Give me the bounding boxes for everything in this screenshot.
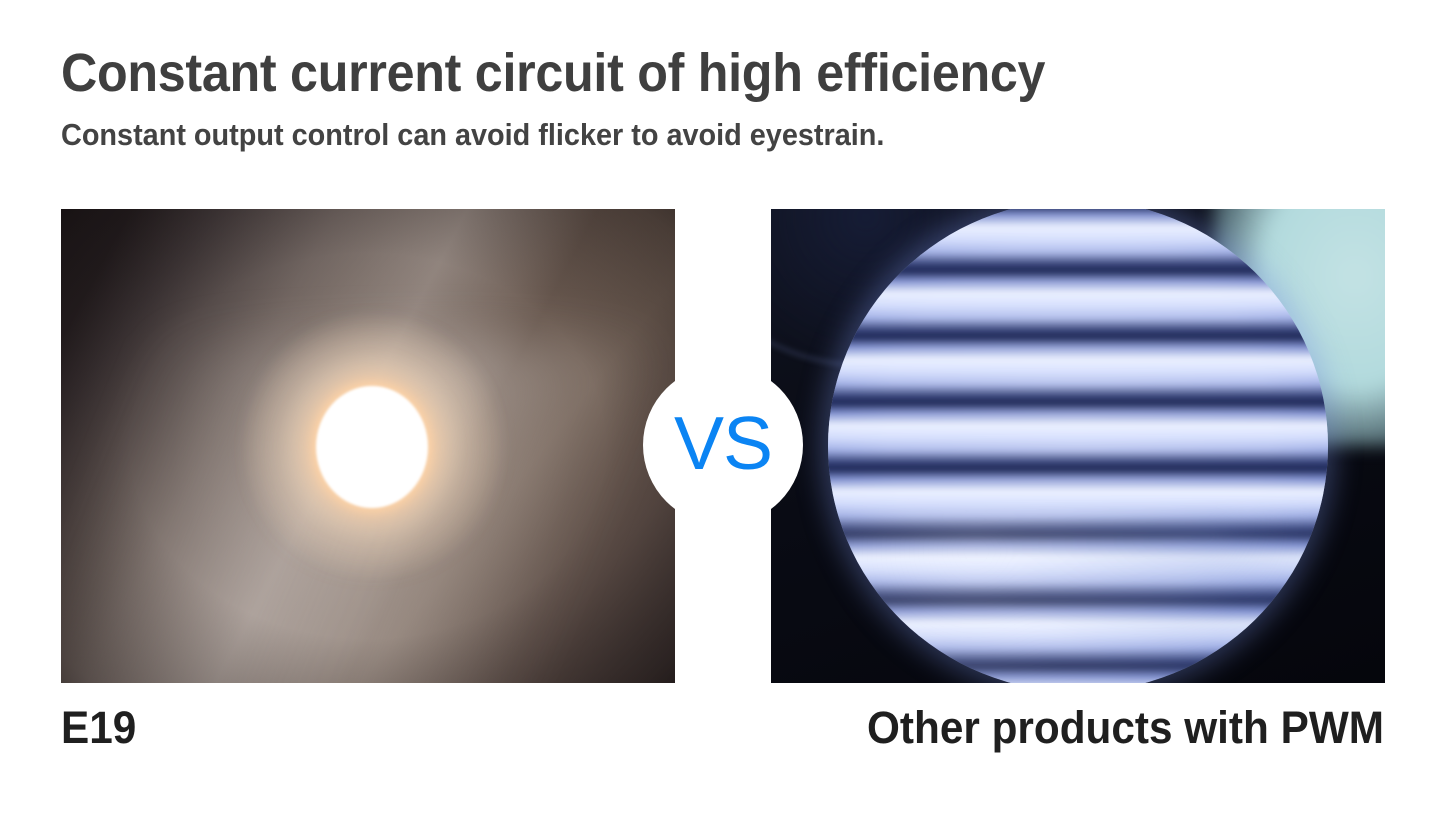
photo-left-e19 [61,209,675,683]
product-feature-slide: Constant current circuit of high efficie… [0,0,1445,813]
caption-right-other-products: Other products with PWM [867,703,1384,753]
page-subtitle: Constant output control can avoid flicke… [61,116,1289,153]
vs-badge: VS [643,365,803,525]
lamp-bulb-disc [316,386,428,508]
page-title: Constant current circuit of high efficie… [61,44,1289,102]
pwm-disc-rim-shadow [828,209,1328,683]
photo-right-pwm [771,209,1385,683]
vs-badge-label: VS [674,406,772,481]
caption-left-e19: E19 [61,703,136,753]
pwm-light-disc [828,209,1328,683]
heading-block: Constant current circuit of high efficie… [61,44,1381,154]
